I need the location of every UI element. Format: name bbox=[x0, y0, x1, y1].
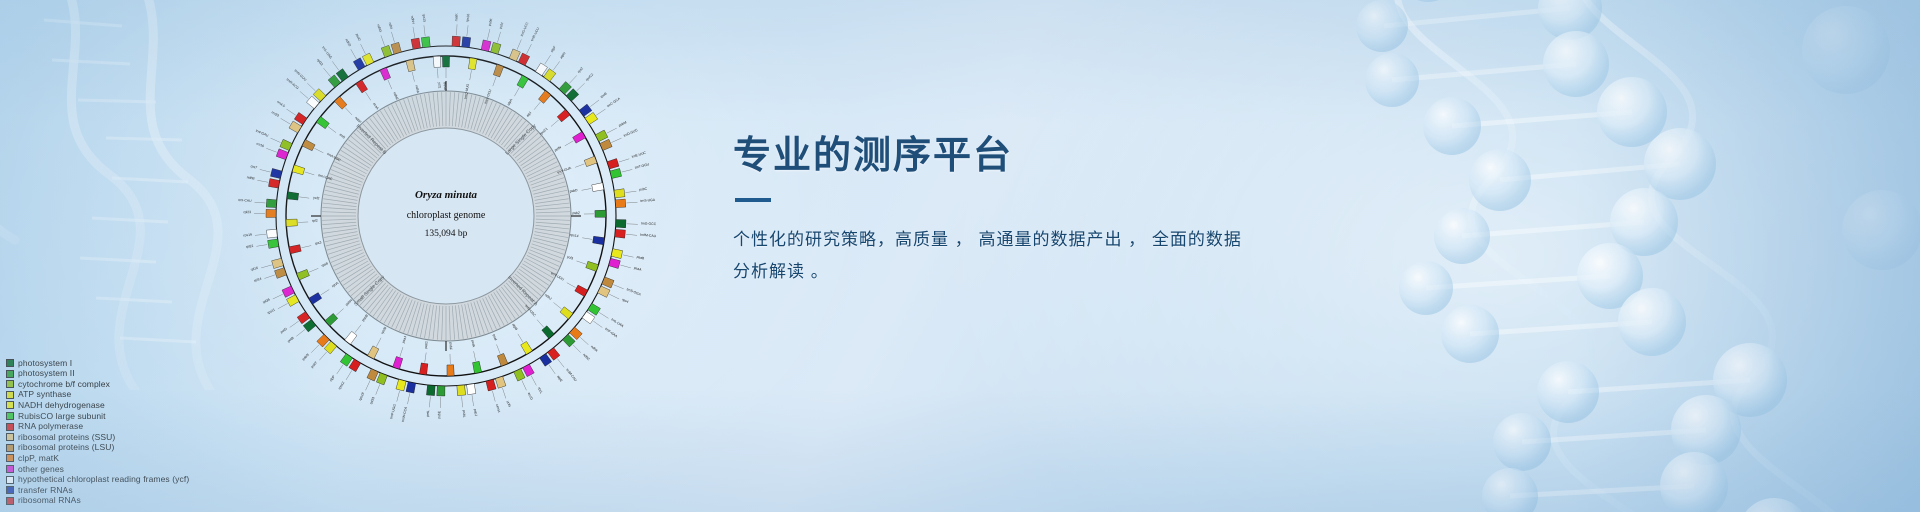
legend-swatch bbox=[6, 465, 14, 473]
genome-gene-label: trnfM-CAU bbox=[640, 233, 656, 239]
genome-gene-label: atpI bbox=[526, 111, 533, 118]
legend-label: ribosomal proteins (SSU) bbox=[18, 432, 115, 443]
genome-gene-block bbox=[268, 179, 279, 189]
genome-gene-block bbox=[593, 236, 605, 245]
genome-gene-label: rps18 bbox=[358, 392, 365, 401]
genome-gene-label: atpB bbox=[511, 323, 518, 332]
genome-gene-label: trnG-UCC bbox=[520, 21, 530, 37]
genome-gene-label: rps4 bbox=[621, 298, 629, 305]
genome-gene-block bbox=[275, 268, 287, 279]
genome-gene-block bbox=[286, 219, 297, 226]
genome-gene-label: rps11 bbox=[267, 308, 276, 316]
genome-gene-block bbox=[340, 354, 352, 367]
legend-item: NADH dehydrogenase bbox=[6, 400, 189, 411]
genome-gene-label: rpl22 bbox=[246, 244, 254, 249]
legend-label: hypothetical chloroplast reading frames … bbox=[18, 474, 189, 485]
genome-gene-label: rpoA bbox=[331, 281, 340, 289]
genome-gene-block bbox=[491, 42, 501, 54]
legend-label: ATP synthase bbox=[18, 389, 71, 400]
genome-gene-label: rpoC2 bbox=[585, 72, 595, 81]
genome-gene-label: ndhI bbox=[388, 22, 394, 30]
genome-gene-label: trnR-ACG bbox=[286, 78, 300, 91]
genome-gene-label: rpoC1 bbox=[539, 127, 549, 136]
legend-swatch bbox=[6, 423, 14, 431]
legend-item: ribosomal RNAs bbox=[6, 495, 189, 506]
genome-gene-block bbox=[433, 56, 441, 67]
genome-gene-block bbox=[270, 168, 282, 178]
genome-gene-label: rrn16 bbox=[256, 142, 265, 149]
genome-gene-block bbox=[486, 379, 496, 391]
legend-item: photosystem II bbox=[6, 368, 189, 379]
genome-gene-label: ndhD bbox=[344, 38, 352, 48]
genome-gene-label: trnI-GAU bbox=[255, 129, 269, 138]
genome-gene-label: psbK bbox=[488, 17, 494, 26]
genome-gene-label: rpl33 bbox=[369, 396, 376, 405]
genome-gene-label: psbJ bbox=[473, 409, 478, 417]
genome-gene-label: trnS-GGA bbox=[626, 287, 642, 297]
genome-gene-block bbox=[523, 364, 535, 377]
genome-gene-block bbox=[421, 37, 430, 48]
genome-gene-block bbox=[442, 56, 449, 67]
genome-gene-block bbox=[595, 130, 607, 142]
genome-gene-block bbox=[380, 67, 391, 80]
genome-gene-block bbox=[406, 382, 416, 393]
genome-gene-block bbox=[426, 385, 435, 396]
genome-gene-label: ndhJ bbox=[544, 293, 552, 301]
legend-label: cytochrome b/f complex bbox=[18, 379, 110, 390]
genome-gene-label: ndhK bbox=[590, 345, 599, 354]
genome-gene-block bbox=[560, 307, 573, 319]
legend-item: RNA polymerase bbox=[6, 421, 189, 432]
genome-gene-label: atpH bbox=[559, 51, 567, 60]
genome-gene-block bbox=[467, 384, 476, 395]
genome-gene-label: trnN-GUU bbox=[294, 69, 308, 83]
genome-gene-label: rpoB bbox=[600, 91, 609, 99]
genome-gene-label: psbE bbox=[437, 410, 441, 419]
genome-gene-label: rpl2 bbox=[312, 219, 318, 223]
genome-gene-label: psbF bbox=[449, 342, 453, 350]
genome-gene-block bbox=[610, 168, 622, 178]
genome-gene-label: trnC-GCA bbox=[606, 96, 621, 108]
genome-gene-block bbox=[598, 286, 610, 297]
genome-gene-label: ycf2 bbox=[313, 196, 320, 201]
legend-swatch bbox=[6, 454, 14, 462]
legend-item: hypothetical chloroplast reading frames … bbox=[6, 474, 189, 485]
genome-gene-label: rrn23 bbox=[271, 110, 280, 118]
genome-gene-label: ndhG bbox=[376, 24, 383, 34]
legend-swatch bbox=[6, 401, 14, 409]
genome-gene-block bbox=[592, 183, 604, 192]
genome-gene-label: trnS-UGA bbox=[640, 198, 656, 203]
genome-gene-block bbox=[447, 365, 454, 376]
genome-gene-block bbox=[615, 199, 626, 208]
legend-label: ribosomal RNAs bbox=[18, 495, 81, 506]
genome-gene-label: atpF bbox=[550, 45, 557, 53]
genome-gene-block bbox=[411, 38, 420, 49]
genome-gene-block bbox=[396, 379, 406, 391]
genome-gene-label: petL bbox=[426, 410, 431, 417]
genome-gene-block bbox=[557, 109, 570, 121]
genome-gene-block bbox=[468, 58, 477, 70]
legend-item: other genes bbox=[6, 464, 189, 475]
genome-gene-label: psaA bbox=[633, 266, 642, 272]
legend-swatch bbox=[6, 476, 14, 484]
genome-gene-label: psbC bbox=[639, 187, 648, 192]
genome-gene-label: trnL-UAA bbox=[610, 317, 625, 328]
banner-subcopy: 个性化的研究策略，高质量 ， 高通量的数据产出 ， 全面的数据分析解读 。 bbox=[733, 224, 1253, 288]
genome-gene-label: psaB bbox=[636, 255, 645, 261]
legend-label: ribosomal proteins (LSU) bbox=[18, 442, 114, 453]
genome-gene-label: trnG-GCC bbox=[641, 221, 656, 226]
genome-organism-label: Oryza minuta bbox=[415, 189, 478, 201]
legend-swatch bbox=[6, 370, 14, 378]
genome-gene-block bbox=[481, 40, 491, 52]
genome-gene-label: ndhA bbox=[414, 85, 420, 94]
genome-gene-block bbox=[609, 258, 621, 268]
genome-gene-block bbox=[267, 229, 278, 238]
genome-gene-block bbox=[266, 199, 277, 208]
genome-gene-label: cemA bbox=[495, 404, 501, 414]
genome-gene-label: trnF-GAA bbox=[604, 327, 619, 339]
genome-gene-label: petD bbox=[280, 326, 289, 334]
genome-gene-label: rps3 bbox=[314, 240, 321, 245]
genome-gene-block bbox=[345, 331, 357, 344]
genome-gene-block bbox=[584, 156, 597, 166]
genome-gene-block bbox=[611, 249, 622, 259]
genome-gene-label: psbT bbox=[310, 361, 318, 369]
genome-gene-label: accD bbox=[527, 392, 534, 401]
legend-swatch bbox=[6, 359, 14, 367]
genome-gene-block bbox=[518, 53, 529, 65]
legend-label: photosystem II bbox=[18, 368, 75, 379]
legend-swatch bbox=[6, 497, 14, 505]
legend-swatch bbox=[6, 486, 14, 494]
genome-gene-block bbox=[452, 36, 460, 46]
genome-gene-label: rps19 bbox=[243, 233, 252, 238]
genome-gene-block bbox=[289, 245, 301, 254]
genome-gene-block bbox=[294, 112, 307, 124]
genome-gene-label: rbcL bbox=[537, 387, 544, 395]
genome-gene-block bbox=[287, 192, 299, 200]
legend-item: clpP, matK bbox=[6, 453, 189, 464]
genome-gene-label: rps16 bbox=[465, 13, 470, 22]
legend-swatch bbox=[6, 391, 14, 399]
genome-gene-label: rpl14 bbox=[254, 277, 263, 283]
banner-copy: 专业的测序平台 个性化的研究策略，高质量 ， 高通量的数据产出 ， 全面的数据分… bbox=[733, 136, 1278, 288]
genome-gene-label: trnT-GGU bbox=[634, 162, 650, 170]
genome-gene-block bbox=[493, 64, 503, 77]
legend-item: cytochrome b/f complex bbox=[6, 379, 189, 390]
genome-gene-label: trnP-UGG bbox=[389, 403, 397, 419]
title-divider bbox=[735, 198, 771, 202]
hero-banner: Oryza minuta chloroplast genome 135,094 … bbox=[0, 0, 1920, 512]
genome-gene-block bbox=[538, 91, 550, 104]
genome-length-label: 135,094 bp bbox=[425, 229, 468, 239]
genome-gene-block bbox=[393, 356, 403, 369]
genome-gene-label: psbZ bbox=[572, 211, 580, 215]
genome-gene-label: rpl36 bbox=[262, 297, 271, 304]
genome-gene-block bbox=[272, 258, 284, 268]
genome-gene-block bbox=[292, 165, 305, 175]
legend-item: transfer RNAs bbox=[6, 485, 189, 496]
genome-gene-block bbox=[462, 37, 471, 48]
genome-legend: photosystem Iphotosystem IIcytochrome b/… bbox=[6, 358, 189, 506]
genome-gene-label: psaJ bbox=[401, 335, 407, 343]
genome-gene-block bbox=[473, 361, 482, 373]
genome-gene-label: trnR-UCU bbox=[530, 26, 540, 42]
legend-item: photosystem I bbox=[6, 358, 189, 369]
legend-item: ATP synthase bbox=[6, 389, 189, 400]
legend-item: RubisCO large subunit bbox=[6, 411, 189, 422]
genome-gene-block bbox=[614, 189, 625, 198]
legend-item: ribosomal proteins (SSU) bbox=[6, 432, 189, 443]
genome-gene-label: psbM bbox=[618, 120, 627, 127]
genome-gene-block bbox=[437, 386, 445, 396]
genome-gene-label: psbN bbox=[301, 352, 310, 361]
genome-gene-label: trnD-GUC bbox=[623, 128, 639, 138]
genome-gene-block bbox=[419, 363, 427, 375]
genome-gene-label: trnL-UAG bbox=[321, 46, 333, 60]
genome-gene-label: ndhH bbox=[410, 15, 415, 24]
genome-gene-label: trnW-CCA bbox=[401, 406, 408, 423]
legend-swatch bbox=[6, 433, 14, 441]
genome-gene-label: psbA bbox=[443, 81, 447, 89]
genome-gene-label: trnI-CAU bbox=[238, 198, 252, 203]
genome-gene-label: trnM-CAU bbox=[565, 368, 578, 383]
genome-gene-label: rrn4.5 bbox=[276, 100, 286, 108]
legend-label: other genes bbox=[18, 464, 64, 475]
genome-gene-block bbox=[497, 353, 507, 366]
genome-gene-block bbox=[607, 159, 619, 169]
genome-gene-block bbox=[325, 313, 338, 326]
genome-gene-block bbox=[286, 295, 299, 307]
genome-gene-label: rps14 bbox=[570, 233, 579, 238]
genome-gene-block bbox=[616, 220, 626, 228]
genome-gene-block bbox=[289, 121, 302, 133]
genome-gene-label: atpE bbox=[556, 375, 564, 384]
legend-label: RubisCO large subunit bbox=[18, 411, 106, 422]
genome-gene-block bbox=[495, 376, 506, 388]
genome-gene-label: ccsA bbox=[372, 102, 380, 111]
legend-label: photosystem I bbox=[18, 358, 72, 369]
genome-gene-label: rpl16 bbox=[250, 266, 258, 272]
legend-swatch bbox=[6, 412, 14, 420]
genome-gene-block bbox=[362, 53, 373, 65]
genome-gene-block bbox=[268, 239, 279, 248]
genome-gene-block bbox=[542, 326, 554, 339]
genome-gene-label: psbD bbox=[569, 188, 578, 194]
legend-label: clpP, matK bbox=[18, 453, 59, 464]
genome-gene-block bbox=[316, 117, 329, 129]
genome-gene-label: psaC bbox=[355, 33, 362, 42]
genome-gene-block bbox=[391, 42, 401, 54]
genome-gene-block bbox=[297, 269, 310, 280]
genome-gene-block bbox=[353, 58, 365, 71]
genome-gene-block bbox=[266, 209, 276, 217]
genome-gene-label: rrn5 bbox=[339, 133, 346, 140]
genome-gene-label: petN bbox=[554, 145, 563, 152]
genome-gene-label: psbI bbox=[499, 22, 505, 29]
genome-gene-label: rpl23 bbox=[243, 210, 251, 214]
genome-gene-block bbox=[334, 96, 347, 109]
legend-label: NADH dehydrogenase bbox=[18, 400, 105, 411]
genome-gene-label: rps2 bbox=[577, 66, 584, 74]
genome-gene-label: rpl20 bbox=[380, 326, 387, 335]
genome-gene-label: trnE-UUC bbox=[631, 150, 647, 158]
genome-gene-block bbox=[595, 210, 606, 217]
chloroplast-genome-map: Oryza minuta chloroplast genome 135,094 … bbox=[236, 6, 656, 426]
genome-gene-label: psaI bbox=[492, 334, 498, 341]
dna-helix-decoration bbox=[1170, 0, 1920, 512]
genome-gene-label: rpl32 bbox=[316, 58, 324, 66]
genome-gene-label: ycf1 bbox=[437, 82, 441, 89]
genome-gene-label: matK bbox=[454, 13, 458, 22]
legend-swatch bbox=[6, 444, 14, 452]
legend-swatch bbox=[6, 380, 14, 388]
genome-gene-label: ndhC bbox=[582, 353, 591, 362]
genome-gene-label: clpP bbox=[329, 374, 336, 382]
page-title: 专业的测序平台 bbox=[733, 136, 1278, 178]
genome-gene-label: petA bbox=[470, 340, 475, 348]
genome-gene-label: petG bbox=[424, 341, 429, 349]
genome-gene-label: ycf4 bbox=[506, 400, 512, 407]
genome-gene-label: rps7 bbox=[250, 164, 257, 170]
genome-gene-label: psbL bbox=[462, 410, 467, 418]
genome-gene-block bbox=[586, 261, 599, 271]
genome-gene-block bbox=[457, 385, 466, 396]
genome-gene-label: rps8 bbox=[321, 262, 329, 268]
genome-gene-label: ndhE bbox=[392, 92, 399, 102]
genome-gene-label: rps15 bbox=[422, 14, 427, 23]
genome-gene-label: ycf3 bbox=[567, 255, 574, 261]
genome-subtitle-label: chloroplast genome bbox=[407, 210, 486, 221]
genome-gene-label: atpA bbox=[506, 98, 513, 107]
genome-gene-label: ndhB bbox=[246, 175, 255, 181]
genome-gene-label: rps12 bbox=[337, 381, 345, 390]
genome-gene-label: petB bbox=[287, 335, 296, 343]
legend-label: transfer RNAs bbox=[18, 485, 73, 496]
genome-gene-block bbox=[615, 229, 626, 238]
legend-label: RNA polymerase bbox=[18, 421, 83, 432]
legend-item: ribosomal proteins (LSU) bbox=[6, 442, 189, 453]
genome-gene-block bbox=[282, 286, 294, 297]
genome-gene-block bbox=[406, 59, 415, 71]
